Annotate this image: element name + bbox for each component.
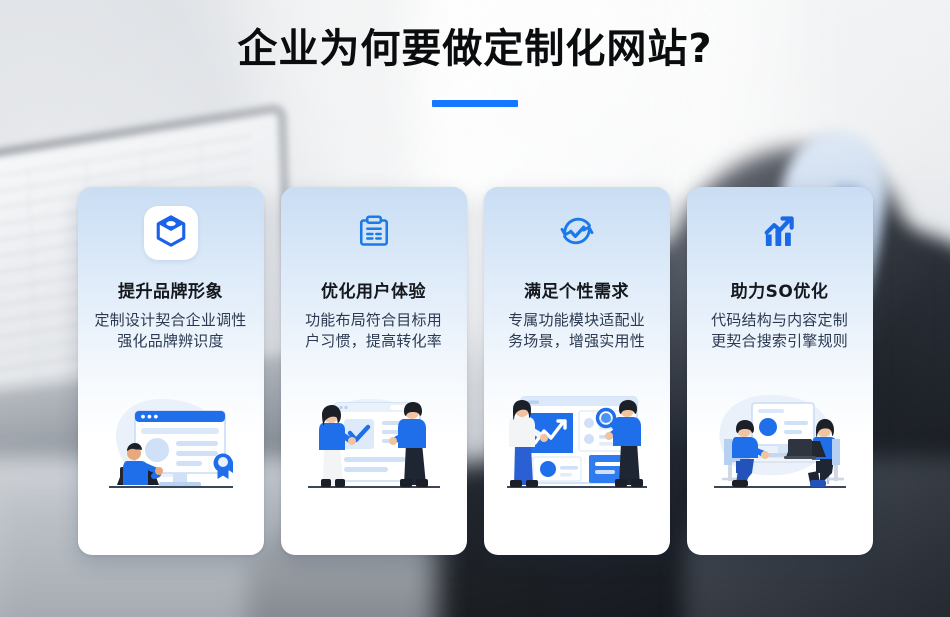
illustration-two-people-at-desk: [696, 383, 864, 513]
card-description: 专属功能模块适配业 务场景，增强实用性: [494, 310, 660, 353]
card-description-line2: 更契合搜索引擎规则: [711, 332, 848, 350]
card-title: 优化用户体验: [321, 277, 426, 302]
illustration-dashboard-analysis: [493, 383, 661, 513]
poster-stage: 企业为何要做定制化网站? 提升品牌形象 定制设计契合企业调性: [0, 0, 950, 617]
heading-block: 企业为何要做定制化网站?: [0, 24, 950, 107]
refresh-check-circle-icon: [557, 211, 597, 256]
card-description-line1: 定制设计契合企业调性: [94, 311, 246, 329]
feature-card-brand-image[interactable]: 提升品牌形象 定制设计契合企业调性 强化品牌辨识度: [78, 187, 264, 555]
feature-card-seo-optimization[interactable]: 助力SO优化 代码结构与内容定制 更契合搜索引擎规则: [687, 187, 873, 555]
illustration-person-at-laptop-with-browser: [87, 383, 255, 513]
card-description-line2: 户习惯，提高转化率: [305, 332, 442, 350]
icon-tile: [550, 206, 604, 260]
card-description: 定制设计契合企业调性 强化品牌辨识度: [88, 310, 254, 353]
card-description-line2: 务场景，增强实用性: [508, 332, 645, 350]
icon-tile: [347, 206, 401, 260]
card-title: 满足个性需求: [524, 277, 629, 302]
card-description: 功能布局符合目标用 户习惯，提高转化率: [291, 310, 457, 353]
feature-card-row: 提升品牌形象 定制设计契合企业调性 强化品牌辨识度: [0, 187, 950, 555]
card-description-line1: 代码结构与内容定制: [711, 311, 848, 329]
card-description-line2: 强化品牌辨识度: [117, 332, 223, 350]
card-description-line1: 专属功能模块适配业: [508, 311, 645, 329]
card-description: 代码结构与内容定制 更契合搜索引擎规则: [697, 310, 863, 353]
icon-tile: [144, 206, 198, 260]
title-underline-bar: [432, 100, 518, 107]
clipboard-document-icon: [356, 213, 392, 254]
icon-tile: [753, 206, 807, 260]
cube-box-icon: [154, 214, 188, 253]
feature-card-personalized-needs[interactable]: 满足个性需求 专属功能模块适配业 务场景，增强实用性: [484, 187, 670, 555]
card-title: 提升品牌形象: [118, 277, 223, 302]
card-title: 助力SO优化: [731, 277, 829, 302]
feature-card-user-experience[interactable]: 优化用户体验 功能布局符合目标用 户习惯，提高转化率: [281, 187, 467, 555]
bar-chart-growth-arrow-icon: [760, 211, 800, 256]
card-description-line1: 功能布局符合目标用: [305, 311, 442, 329]
page-title: 企业为何要做定制化网站?: [0, 24, 950, 74]
illustration-two-people-with-checkmark-window: [290, 383, 458, 513]
